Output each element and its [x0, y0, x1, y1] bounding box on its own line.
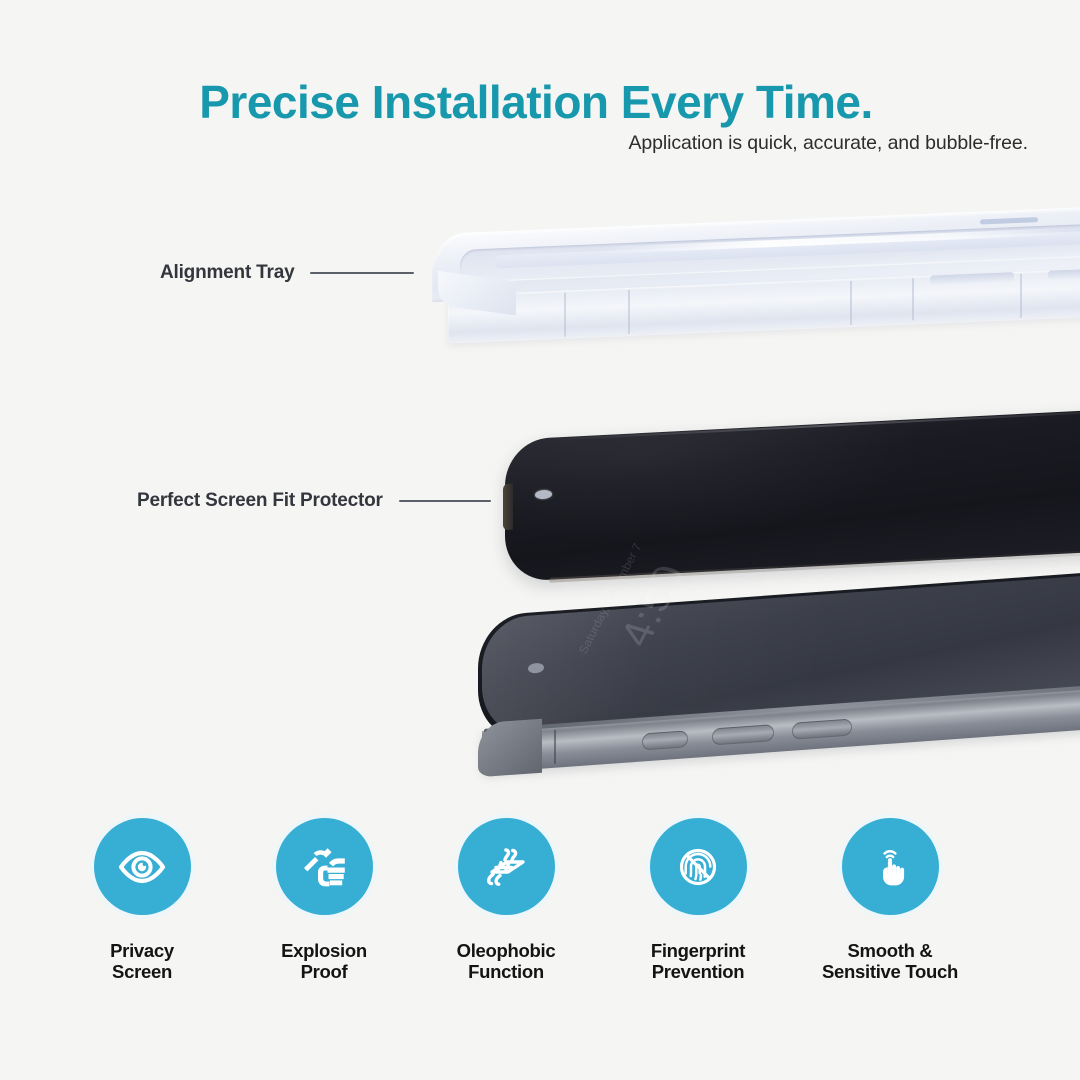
callout-alignment-tray: Alignment Tray [160, 262, 414, 284]
feature-privacy-screen: Privacy Screen [54, 818, 230, 983]
phone-corner [478, 719, 542, 778]
tray-seam [628, 290, 630, 334]
phone-image: Saturday, December 7 4:50 [468, 573, 1080, 788]
touch-hand-icon [861, 838, 919, 896]
phone-mute-button[interactable] [642, 730, 688, 750]
feature-icon-badge [650, 818, 747, 915]
page-subtitle: Application is quick, accurate, and bubb… [0, 132, 1080, 155]
eye-icon [114, 839, 170, 895]
callout-label: Perfect Screen Fit Protector [137, 490, 383, 512]
fingerprint-blocked-icon [669, 838, 727, 896]
callout-screen-protector: Perfect Screen Fit Protector [137, 490, 491, 512]
tray-notch [1048, 268, 1080, 280]
feature-label: Smooth & Sensitive Touch [802, 941, 978, 983]
feature-explosion-proof: Explosion Proof [236, 818, 412, 983]
leader-line [310, 272, 414, 274]
tray-seam [912, 278, 914, 320]
feature-icon-badge [276, 818, 373, 915]
feature-label: Oleophobic Function [418, 941, 594, 983]
feature-smooth-sensitive-touch: Smooth & Sensitive Touch [802, 818, 978, 983]
feature-list: Privacy Screen Explosion [0, 818, 1080, 1018]
hammer-hand-icon [295, 838, 353, 896]
feature-label: Privacy Screen [54, 941, 230, 983]
tray-seam [850, 281, 852, 325]
screen-protector-image [505, 408, 1080, 582]
feature-label: Fingerprint Prevention [610, 941, 786, 983]
feature-icon-badge [94, 818, 191, 915]
feature-icon-badge [842, 818, 939, 915]
oil-repel-icon [477, 838, 535, 896]
tray-seam [1020, 274, 1022, 318]
feature-fingerprint-prevention: Fingerprint Prevention [610, 818, 786, 983]
tray-seam [564, 293, 566, 337]
page-title: Precise Installation Every Time. [0, 78, 1080, 128]
feature-oleophobic-function: Oleophobic Function [418, 818, 594, 983]
phone-antenna-seam [554, 730, 556, 764]
feature-icon-badge [458, 818, 555, 915]
infographic-canvas: Precise Installation Every Time. Applica… [0, 0, 1080, 1080]
leader-line [399, 500, 491, 502]
callout-label: Alignment Tray [160, 262, 294, 284]
alignment-tray-image [432, 205, 1080, 352]
feature-label: Explosion Proof [236, 941, 412, 983]
protector-left-edge [503, 484, 513, 531]
